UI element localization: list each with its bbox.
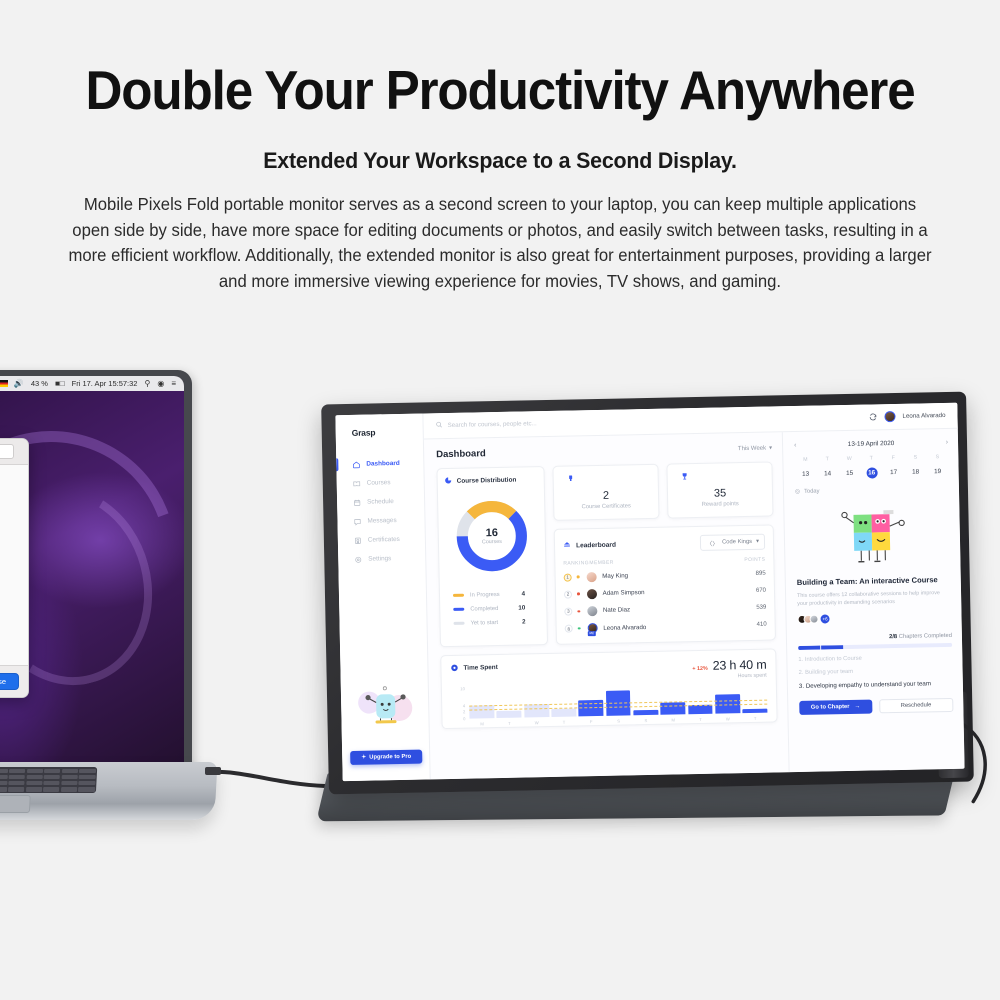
member-points: 895	[736, 570, 766, 577]
sidebar-item-label: Settings	[368, 555, 391, 562]
bar-column[interactable]	[551, 686, 577, 716]
x-tick-label: S	[633, 718, 658, 723]
x-tick-label: W	[715, 716, 740, 721]
trend-dot-icon	[578, 627, 581, 630]
menubar-clock[interactable]: Fri 17. Apr 15:57:32	[72, 379, 138, 388]
leaderboard-group-dropdown[interactable]: 〈〉 Code Kings ▾	[700, 534, 765, 551]
finder-search-input[interactable]	[0, 444, 14, 459]
sidebar-item-label: Certificates	[368, 536, 400, 544]
finder-footer: Cancel Choose	[0, 665, 28, 697]
gear-icon	[354, 555, 362, 563]
legend-item: Completed 10	[453, 604, 539, 613]
participants-more-count: +6	[820, 615, 829, 624]
laptop-keyboard[interactable]	[0, 767, 97, 793]
me-badge: ME	[587, 631, 596, 636]
time-spent-card: Time Spent + 12% 23 h 40 m Hours spent	[440, 648, 777, 729]
sidebar-item-dashboard[interactable]: Dashboard	[336, 453, 423, 474]
legend-swatch	[454, 622, 465, 625]
calendar-dow: F	[882, 455, 904, 461]
volume-icon[interactable]: 🔊	[14, 379, 24, 388]
calendar-date: 13	[795, 469, 817, 480]
calendar-header: ‹ 13-19 April 2020 ›	[794, 439, 948, 449]
y-tick-label: 2	[463, 709, 465, 714]
page-headline: Double Your Productivity Anywhere	[35, 58, 965, 122]
legend-label: In Progress	[470, 591, 500, 598]
laptop-base	[0, 762, 218, 820]
battery-icon: ■□	[55, 379, 65, 388]
x-tick-label: F	[579, 719, 604, 724]
leaderboard-row-current-user[interactable]: 8 ME Leona Alvarado 410	[565, 616, 767, 637]
leaderboard-card: Leaderboard 〈〉 Code Kings ▾	[554, 524, 776, 644]
calendar-grid: M13 T14 W15 T16 F17 S18 S19	[794, 454, 948, 480]
calendar-dow: T	[816, 456, 838, 462]
portable-monitor: Grasp Dashboard Courses Schedule	[321, 392, 974, 795]
calendar-dow: S	[904, 454, 926, 460]
x-tick-label: M	[661, 717, 686, 722]
course-card-title: Building a Team: An interactive Course	[797, 575, 951, 588]
distribution-icon	[445, 477, 452, 486]
legend-value: 10	[518, 604, 539, 611]
rank-badge: 8	[565, 625, 573, 633]
search-icon	[436, 421, 443, 430]
chapters-progress-text: Chapters Completed	[899, 633, 952, 640]
avatar	[809, 615, 818, 624]
sidebar-item-settings[interactable]: Settings	[338, 548, 425, 569]
keyboard-row	[0, 781, 95, 786]
page-body-copy: Mobile Pixels Fold portable monitor serv…	[68, 192, 931, 294]
leaderboard-header: Leaderboard 〈〉 Code Kings ▾	[563, 534, 765, 554]
x-tick-label: T	[743, 715, 768, 720]
calendar-day[interactable]: W15	[838, 456, 860, 479]
course-participants[interactable]: +6	[797, 612, 951, 624]
week-filter-label: This Week	[738, 445, 766, 452]
sidebar-item-courses[interactable]: Courses	[337, 472, 424, 493]
x-tick-label: M	[470, 721, 495, 726]
monitor-screen: Grasp Dashboard Courses Schedule	[335, 403, 964, 781]
course-distribution-header: Course Distribution	[445, 475, 537, 486]
sidebar-nav: Dashboard Courses Schedule Messages	[336, 453, 425, 569]
calendar-prev-button[interactable]: ‹	[794, 442, 796, 449]
chart-y-axis: 10 4 2 0	[451, 688, 468, 718]
chevron-down-icon: ▾	[756, 539, 759, 545]
avatar	[587, 589, 597, 599]
laptop-screen: ☍ ◖ 🔊 43 % ■□ Fri 17. Apr 15:57:32 ⚲ ◉ ≡	[0, 376, 184, 764]
finder-file-grid: nstall.sh Movies Public python stormProj…	[0, 465, 28, 665]
time-spent-delta: + 12%	[692, 666, 708, 672]
rank-badge: 1	[564, 573, 572, 581]
x-tick-label: T	[497, 720, 522, 725]
bar-column[interactable]	[660, 684, 686, 714]
bar-column[interactable]	[523, 687, 549, 717]
member-name: May King	[602, 570, 736, 580]
stats-row: 2 Course Certificates 35 Reward points	[552, 461, 773, 520]
time-spent-title: Time Spent	[463, 664, 497, 672]
bar-column[interactable]	[687, 683, 713, 713]
go-to-chapter-button[interactable]: Go to Chapter →	[799, 699, 872, 714]
member-name: Leona Alvarado	[603, 622, 737, 632]
legend-value: 2	[522, 618, 540, 625]
today-label: Today	[804, 489, 820, 495]
leaderboard-filter-label: Code Kings	[722, 539, 752, 546]
x-tick-label: T	[551, 719, 576, 724]
bar-column[interactable]	[742, 682, 768, 712]
leaderboard-title-group: Leaderboard	[563, 540, 616, 551]
finder-toolbar	[0, 439, 28, 465]
calendar-dow: M	[794, 457, 816, 463]
page-subheadline: Extended Your Workspace to a Second Disp…	[25, 148, 975, 174]
sparkle-icon: ✦	[361, 755, 366, 761]
stat-label: Reward points	[674, 501, 766, 509]
app-main: Search for courses, people etc... Leona …	[423, 403, 964, 780]
legend-label: Yet to start	[471, 620, 499, 627]
keyboard-row	[0, 775, 95, 780]
bar-column[interactable]	[633, 685, 659, 715]
time-spent-value: 23 h 40 m	[713, 657, 767, 672]
x-tick-label: W	[524, 720, 549, 725]
sidebar-item-label: Schedule	[367, 498, 394, 506]
courses-icon	[353, 479, 361, 487]
calendar-dow: W	[838, 456, 860, 462]
legend-value: 4	[521, 590, 539, 597]
finder-item-empty	[0, 473, 22, 516]
week-filter-dropdown[interactable]: This Week ▾	[738, 444, 772, 452]
arrow-right-icon: →	[854, 703, 860, 709]
certificate-icon	[566, 474, 575, 483]
course-distribution-donut: 16 Courses	[452, 496, 532, 576]
course-distribution-legend: In Progress 4 Completed 10	[447, 590, 540, 627]
legend-label: Completed	[470, 605, 498, 612]
finder-item-empty	[0, 579, 22, 622]
notification-center-icon[interactable]: ≡	[171, 379, 176, 388]
y-tick-label: 4	[463, 703, 465, 708]
calendar-date: 17	[883, 467, 905, 478]
course-cta-row: Go to Chapter → Reschedule	[799, 697, 953, 714]
y-tick-label: 0	[463, 716, 465, 721]
avatar: ME	[587, 623, 597, 633]
notification-icon[interactable]	[868, 412, 877, 421]
rank-badge: 2	[564, 590, 572, 598]
time-spent-title-group: Time Spent	[450, 663, 498, 674]
chevron-down-icon: ▾	[769, 444, 772, 451]
finder-item-empty	[0, 526, 22, 569]
member-name: Adam Simpson	[603, 588, 737, 598]
calendar-date: 19	[927, 466, 949, 477]
member-points: 410	[737, 622, 767, 629]
calendar-range-label: 13-19 April 2020	[848, 440, 895, 448]
avatar	[587, 606, 597, 616]
calendar-date: 14	[817, 468, 839, 479]
calendar-day[interactable]: T14	[816, 456, 838, 479]
chart-bars	[469, 682, 768, 718]
calendar-date: 18	[905, 466, 927, 477]
x-tick-label: T	[688, 716, 713, 721]
dashboard-main-column: Dashboard This Week ▾	[424, 432, 789, 779]
time-spent-value-label: Hours spent	[692, 672, 766, 679]
course-illustration	[795, 502, 950, 573]
legend-item: In Progress 4	[453, 590, 539, 599]
mascot-illustration	[349, 682, 422, 735]
donut-total-label: Courses	[482, 539, 502, 545]
mac-menubar: ☍ ◖ 🔊 43 % ■□ Fri 17. Apr 15:57:32 ⚲ ◉ ≡	[0, 376, 184, 391]
legend-swatch	[453, 608, 464, 611]
app-sidebar: Grasp Dashboard Courses Schedule	[335, 413, 430, 781]
calendar-date: 15	[839, 468, 861, 479]
sidebar-item-certificates[interactable]: Certificates	[338, 529, 425, 550]
trophy-icon	[680, 472, 689, 481]
calendar-day[interactable]: F17	[882, 455, 904, 478]
sidebar-item-schedule[interactable]: Schedule	[337, 491, 424, 512]
bar-column[interactable]	[496, 687, 522, 717]
chapter-item[interactable]: 1. Introduction to Course	[798, 654, 952, 663]
go-to-chapter-label: Go to Chapter	[811, 704, 850, 711]
time-spent-summary: + 12% 23 h 40 m Hours spent	[692, 657, 767, 679]
app-logo[interactable]: Grasp	[335, 413, 422, 438]
trend-dot-icon	[577, 576, 580, 579]
dashboard-right-column: ‹ 13-19 April 2020 › M13 T14 W15 T16 F17…	[782, 429, 965, 772]
leaderboard-icon	[563, 541, 571, 551]
app-content: Dashboard This Week ▾	[424, 429, 965, 780]
search-input[interactable]: Search for courses, people etc...	[448, 420, 537, 429]
sidebar-item-label: Courses	[367, 479, 391, 486]
chapters-progress-label: 2/8 Chapters Completed	[798, 633, 952, 642]
avatar	[586, 572, 596, 582]
calendar-day-selected[interactable]: T16	[860, 455, 882, 478]
member-points: 539	[736, 605, 766, 612]
stat-value: 2	[560, 489, 652, 503]
bar-column[interactable]	[578, 686, 604, 716]
donut-center-label: 16 Courses	[452, 496, 532, 576]
chapters-progress-bar	[798, 643, 952, 650]
member-points: 670	[736, 587, 766, 594]
trend-dot-icon	[577, 593, 580, 596]
leaderboard-title: Leaderboard	[576, 541, 616, 549]
chapters-progress-count: 2/8	[889, 634, 897, 640]
calendar-dow: S	[926, 454, 948, 460]
grasp-dashboard-app: Grasp Dashboard Courses Schedule	[335, 403, 964, 781]
page-title: Dashboard	[436, 448, 486, 460]
control-center-icon[interactable]: ◉	[157, 379, 164, 388]
dashboard-top-row: Course Distribution	[436, 461, 776, 646]
calendar-dow: T	[860, 455, 882, 461]
legend-swatch	[453, 594, 464, 597]
calendar-icon	[353, 498, 361, 506]
laptop-trackpad[interactable]	[0, 795, 31, 813]
chapter-item-current[interactable]: 3. Developing empathy to understand your…	[799, 680, 953, 691]
calendar-day[interactable]: S18	[904, 454, 926, 477]
course-distribution-card: Course Distribution	[436, 466, 548, 647]
stat-value: 35	[674, 487, 766, 501]
today-icon: ◎	[795, 489, 800, 495]
finder-window[interactable]: nstall.sh Movies Public python stormProj…	[0, 438, 29, 698]
message-icon	[353, 517, 361, 525]
choose-button[interactable]: Choose	[0, 673, 19, 690]
laptop-lid: ☍ ◖ 🔊 43 % ■□ Fri 17. Apr 15:57:32 ⚲ ◉ ≡	[0, 370, 192, 770]
user-name[interactable]: Leona Alvarado	[902, 412, 945, 420]
code-icon: 〈〉	[706, 538, 718, 547]
bar-column[interactable]	[715, 683, 741, 713]
bar-column[interactable]	[469, 688, 495, 718]
course-card-description: This course offers 12 collaborative sess…	[797, 590, 951, 608]
laptop: ☍ ◖ 🔊 43 % ■□ Fri 17. Apr 15:57:32 ⚲ ◉ ≡	[0, 370, 210, 870]
stat-label: Course Certificates	[560, 503, 652, 511]
calendar-day[interactable]: M13	[794, 457, 816, 480]
keyboard-row	[0, 787, 95, 792]
calendar-day[interactable]: S19	[926, 454, 948, 477]
calendar-date: 16	[861, 467, 883, 478]
spotlight-search-icon[interactable]: ⚲	[144, 379, 150, 388]
upgrade-to-pro-button[interactable]: ✦ Upgrade to Pro	[350, 750, 422, 765]
page-title-row: Dashboard This Week ▾	[436, 442, 772, 460]
time-spent-header: Time Spent + 12% 23 h 40 m Hours spent	[450, 657, 766, 684]
clock-icon	[450, 664, 458, 674]
bar-column[interactable]	[605, 685, 631, 715]
today-row[interactable]: ◎ Today	[795, 486, 949, 495]
sidebar-item-label: Messages	[367, 517, 396, 525]
stat-card-reward-points[interactable]: 35 Reward points	[666, 461, 773, 518]
battery-percent: 43 %	[31, 379, 48, 388]
column-header-points: POINTS	[735, 557, 765, 564]
keyboard-layout-flag-icon[interactable]	[0, 380, 8, 387]
dashboard-middle-column: 2 Course Certificates 35 Reward points	[552, 461, 776, 644]
donut-total: 16	[486, 527, 498, 539]
avatar[interactable]	[884, 411, 895, 422]
reschedule-button[interactable]: Reschedule	[879, 697, 954, 712]
stat-card-certificates[interactable]: 2 Course Certificates	[552, 464, 659, 521]
column-header-ranking: RANKING	[563, 560, 589, 567]
x-tick-label: S	[606, 718, 631, 723]
rank-badge: 3	[564, 607, 572, 615]
sidebar-item-label: Dashboard	[366, 460, 400, 468]
course-distribution-title: Course Distribution	[457, 477, 517, 485]
keyboard-row	[0, 769, 96, 774]
upgrade-label: Upgrade to Pro	[369, 754, 411, 761]
sidebar-item-messages[interactable]: Messages	[337, 510, 424, 531]
certificate-icon	[354, 536, 362, 544]
calendar-next-button[interactable]: ›	[946, 439, 948, 446]
legend-item: Yet to start 2	[454, 618, 540, 627]
trend-dot-icon	[577, 610, 580, 613]
member-name: Nate Diaz	[603, 605, 737, 615]
time-spent-bar-chart: 10 4 2 0	[451, 682, 768, 726]
page-root: Double Your Productivity Anywhere Extend…	[0, 0, 1000, 1000]
search-bar[interactable]: Search for courses, people etc...	[436, 413, 862, 431]
y-tick-label: 10	[460, 686, 465, 691]
home-icon	[352, 460, 360, 468]
chapter-item[interactable]: 2. Building your team	[799, 667, 953, 676]
